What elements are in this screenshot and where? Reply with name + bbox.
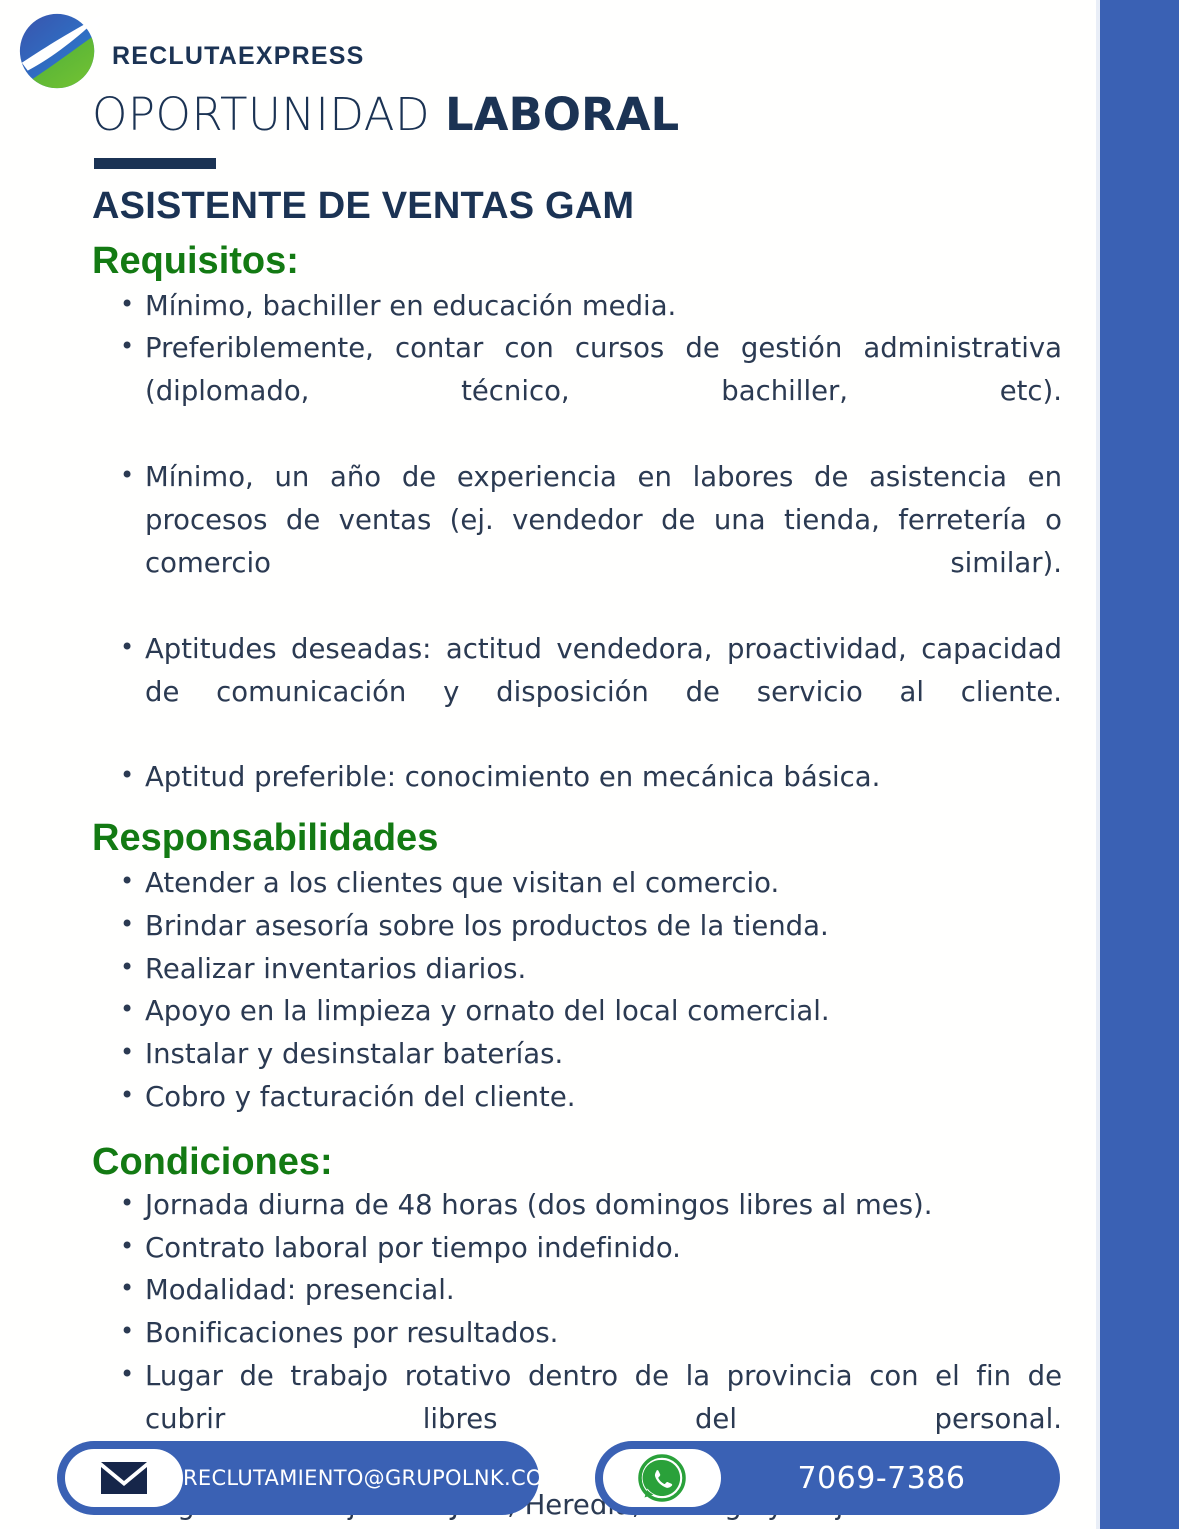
phone-number: 7069-7386 [721,1461,1060,1496]
job-title: ASISTENTE DE VENTAS GAM [92,185,634,228]
page-title: OPORTUNIDAD LABORAL [92,92,679,137]
list-item: Mínimo, bachiller en educación media. [0,285,1100,328]
section-heading-responsabilidades: Responsabilidades [0,817,1100,860]
list-item: Jornada diurna de 48 horas (dos domingos… [0,1184,1100,1227]
whatsapp-icon-badge [603,1449,721,1507]
poster-footer: RECLUTAMIENTO@GRUPOLNK.COM 7069-7386 [0,1429,1100,1529]
title-divider [94,158,216,169]
brand-name: RECLUTAEXPRESS [112,42,364,71]
poster-header: RECLUTAEXPRESS OPORTUNIDAD LABORAL ASIST… [0,0,1100,180]
job-posting-poster: RECLUTAEXPRESS OPORTUNIDAD LABORAL ASIST… [0,0,1179,1529]
list-item: Modalidad: presencial. [0,1269,1100,1312]
list-item: Aptitudes deseadas: actitud vendedora, p… [0,628,1100,757]
poster-body: Requisitos: Mínimo, bachiller en educaci… [0,240,1100,1527]
section-heading-requisitos: Requisitos: [0,240,1100,283]
whatsapp-contact-button[interactable]: 7069-7386 [595,1441,1060,1515]
list-item: Brindar asesoría sobre los productos de … [0,905,1100,948]
list-item: Aptitud preferible: conocimiento en mecá… [0,756,1100,799]
company-logo [10,8,108,96]
section-responsabilidades: Responsabilidades Atender a los clientes… [0,817,1100,1119]
list-item: Realizar inventarios diarios. [0,948,1100,991]
list-item: Contrato laboral por tiempo indefinido. [0,1227,1100,1270]
list-item: Cobro y facturación del cliente. [0,1076,1100,1119]
responsabilidades-list: Atender a los clientes que visitan el co… [0,862,1100,1119]
list-item: Instalar y desinstalar baterías. [0,1033,1100,1076]
envelope-icon-badge [65,1449,183,1507]
list-item: Preferiblemente, contar con cursos de ge… [0,327,1100,456]
headline-light: OPORTUNIDAD [92,88,430,141]
right-blue-band [1100,0,1179,1529]
list-item: Mínimo, un año de experiencia en labores… [0,456,1100,628]
whatsapp-icon [637,1453,687,1503]
email-address: RECLUTAMIENTO@GRUPOLNK.COM [183,1466,569,1490]
globe-swoosh-logo-icon [10,8,108,96]
list-item: Bonificaciones por resultados. [0,1312,1100,1355]
email-contact-button[interactable]: RECLUTAMIENTO@GRUPOLNK.COM [57,1441,539,1515]
section-requisitos: Requisitos: Mínimo, bachiller en educaci… [0,240,1100,799]
requisitos-list: Mínimo, bachiller en educación media. Pr… [0,285,1100,800]
list-item: Apoyo en la limpieza y ornato del local … [0,990,1100,1033]
headline-bold: LABORAL [445,88,679,141]
section-heading-condiciones: Condiciones: [0,1141,1100,1184]
envelope-icon [98,1459,150,1497]
list-item: Atender a los clientes que visitan el co… [0,862,1100,905]
